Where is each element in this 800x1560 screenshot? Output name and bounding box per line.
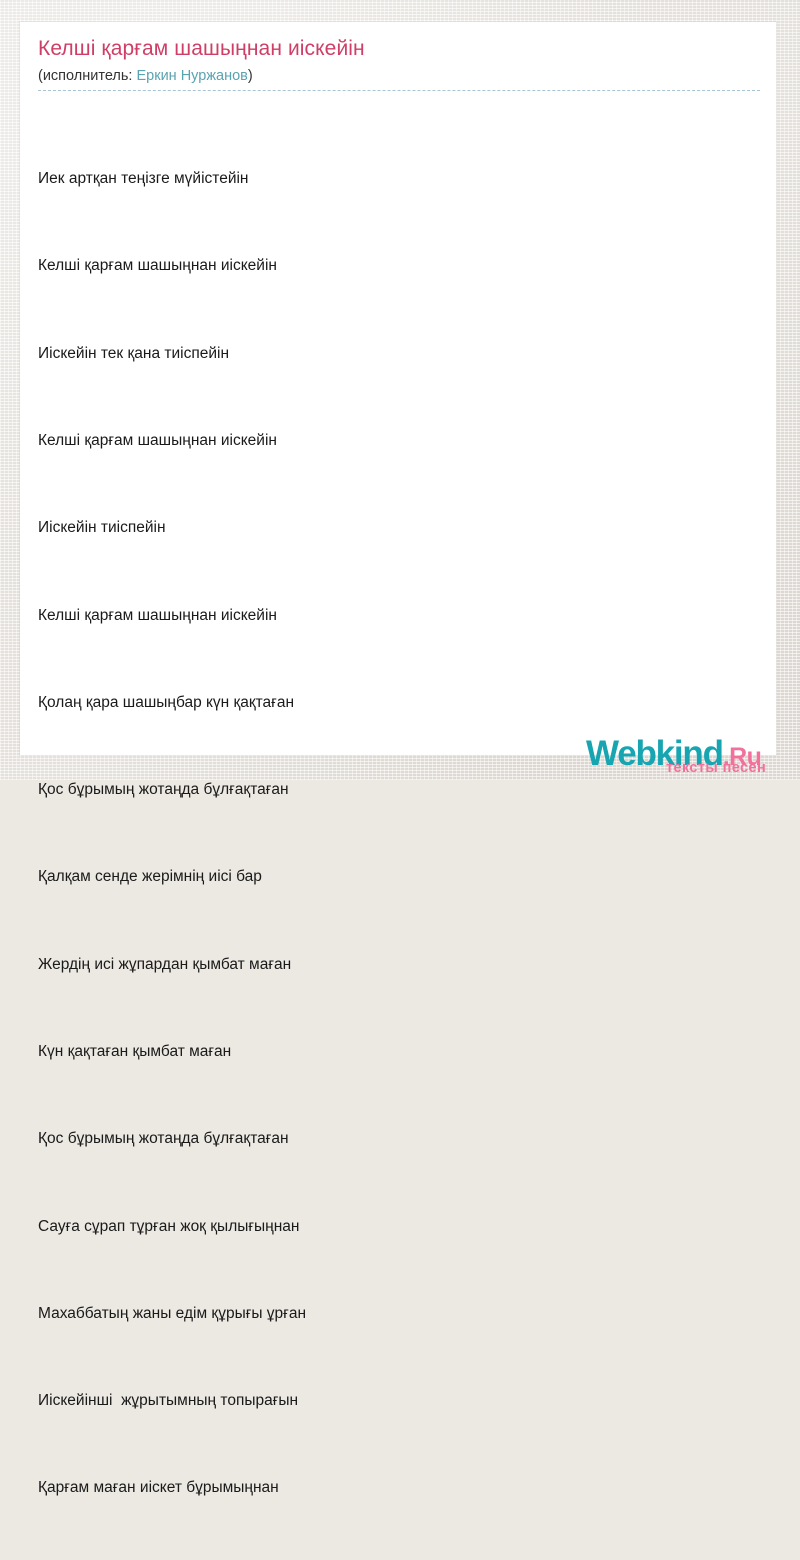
lyrics-content-card: Келші қарғам шашыңнан иіскейін (исполнит… (20, 22, 776, 755)
performer-line: (исполнитель: Еркин Нуржанов) (38, 67, 760, 86)
lyric-line: Иіскейін тиіспейін (38, 513, 754, 542)
logo-tagline: тексты песен (666, 760, 766, 776)
lyric-line: Қолаң қара шашыңбар күн қақтаған (38, 688, 754, 717)
song-header: Келші қарғам шашыңнан иіскейін (исполнит… (38, 36, 760, 86)
lyric-line: Махаббатың жаны едім құрығы ұрған (38, 1299, 754, 1328)
page-title: Келші қарғам шашыңнан иіскейін (38, 36, 760, 62)
site-logo[interactable]: Webkind.Ru тексты песен (586, 735, 776, 779)
lyric-line: Келші қарғам шашыңнан иіскейін (38, 601, 754, 630)
lyric-line: Иек артқан теңізге мүйістейін (38, 164, 754, 193)
lyric-line: Қос бұрымың жотаңда бұлғақтаған (38, 1124, 754, 1153)
performer-link[interactable]: Еркин Нуржанов (136, 68, 247, 84)
lyric-line: Күн қақтаған қымбат маған (38, 1037, 754, 1066)
lyric-line: Келші қарғам шашыңнан иіскейін (38, 426, 754, 455)
lyric-line: Иіскейін тек қана тиіспейін (38, 339, 754, 368)
lyric-line: Сауға сұрап тұрған жоқ қылығыңнан (38, 1212, 754, 1241)
lyric-line: Келші қарғам шашыңнан иіскейін (38, 251, 754, 280)
lyric-line: Иіскейінші жұрытымның топырағын (38, 1386, 754, 1415)
header-divider (38, 90, 760, 91)
performer-suffix-label: ) (248, 68, 253, 84)
lyrics-text: Иек артқан теңізге мүйістейін Келші қарғ… (38, 106, 754, 1560)
lyric-line: Жердің исі жұпардан қымбат маған (38, 950, 754, 979)
performer-prefix-label: (исполнитель: (38, 68, 136, 84)
lyric-line: Қарғам маған иіскет бұрымыңнан (38, 1473, 754, 1502)
lyric-line: Қалқам сенде жерімнің иісі бар (38, 862, 754, 891)
